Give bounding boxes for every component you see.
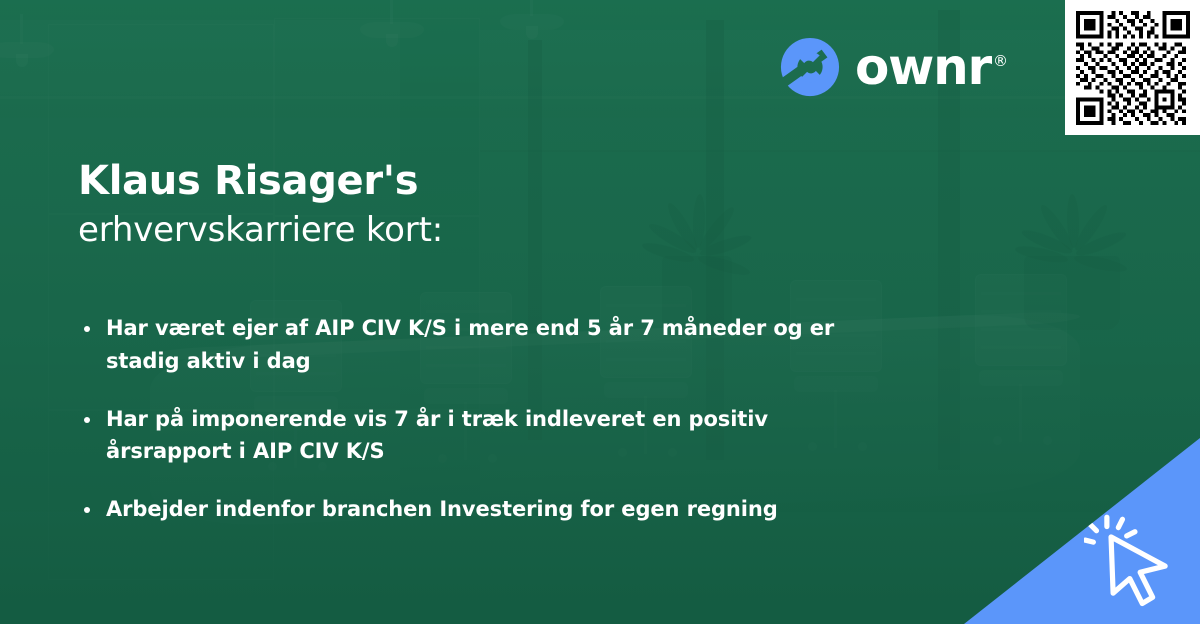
- list-item-text: Har på imponerende vis 7 år i træk indle…: [106, 407, 768, 464]
- title-line-name: Klaus Risager's: [78, 158, 838, 205]
- qr-code-panel[interactable]: [1065, 0, 1200, 135]
- title-line-subtitle: erhvervskarriere kort:: [78, 209, 838, 253]
- list-item-text: Arbejder indenfor branchen Investering f…: [106, 497, 778, 521]
- wordmark-text: ownr: [855, 38, 991, 96]
- click-cursor-icon: [1084, 512, 1188, 616]
- ownr-logo-mark: [779, 36, 841, 98]
- list-item: Har på imponerende vis 7 år i træk indle…: [78, 403, 858, 469]
- career-highlights-list: Har været ejer af AIP CIV K/S i mere end…: [78, 312, 858, 526]
- page-title: Klaus Risager's erhvervskarriere kort:: [78, 158, 838, 253]
- bullet-dot-icon: [84, 507, 90, 513]
- ownr-wordmark: ownr®: [855, 42, 1008, 92]
- list-item: Har været ejer af AIP CIV K/S i mere end…: [78, 312, 858, 378]
- list-item: Arbejder indenfor branchen Investering f…: [78, 493, 858, 526]
- career-card: ownr® Klaus Risager's erhvervskarriere k…: [0, 0, 1200, 624]
- registered-trademark-icon: ®: [993, 52, 1008, 70]
- list-item-text: Har været ejer af AIP CIV K/S i mere end…: [106, 316, 834, 373]
- bullet-dot-icon: [84, 417, 90, 423]
- bullet-dot-icon: [84, 326, 90, 332]
- ownr-logo[interactable]: ownr®: [779, 36, 1008, 98]
- qr-code[interactable]: [1076, 11, 1190, 125]
